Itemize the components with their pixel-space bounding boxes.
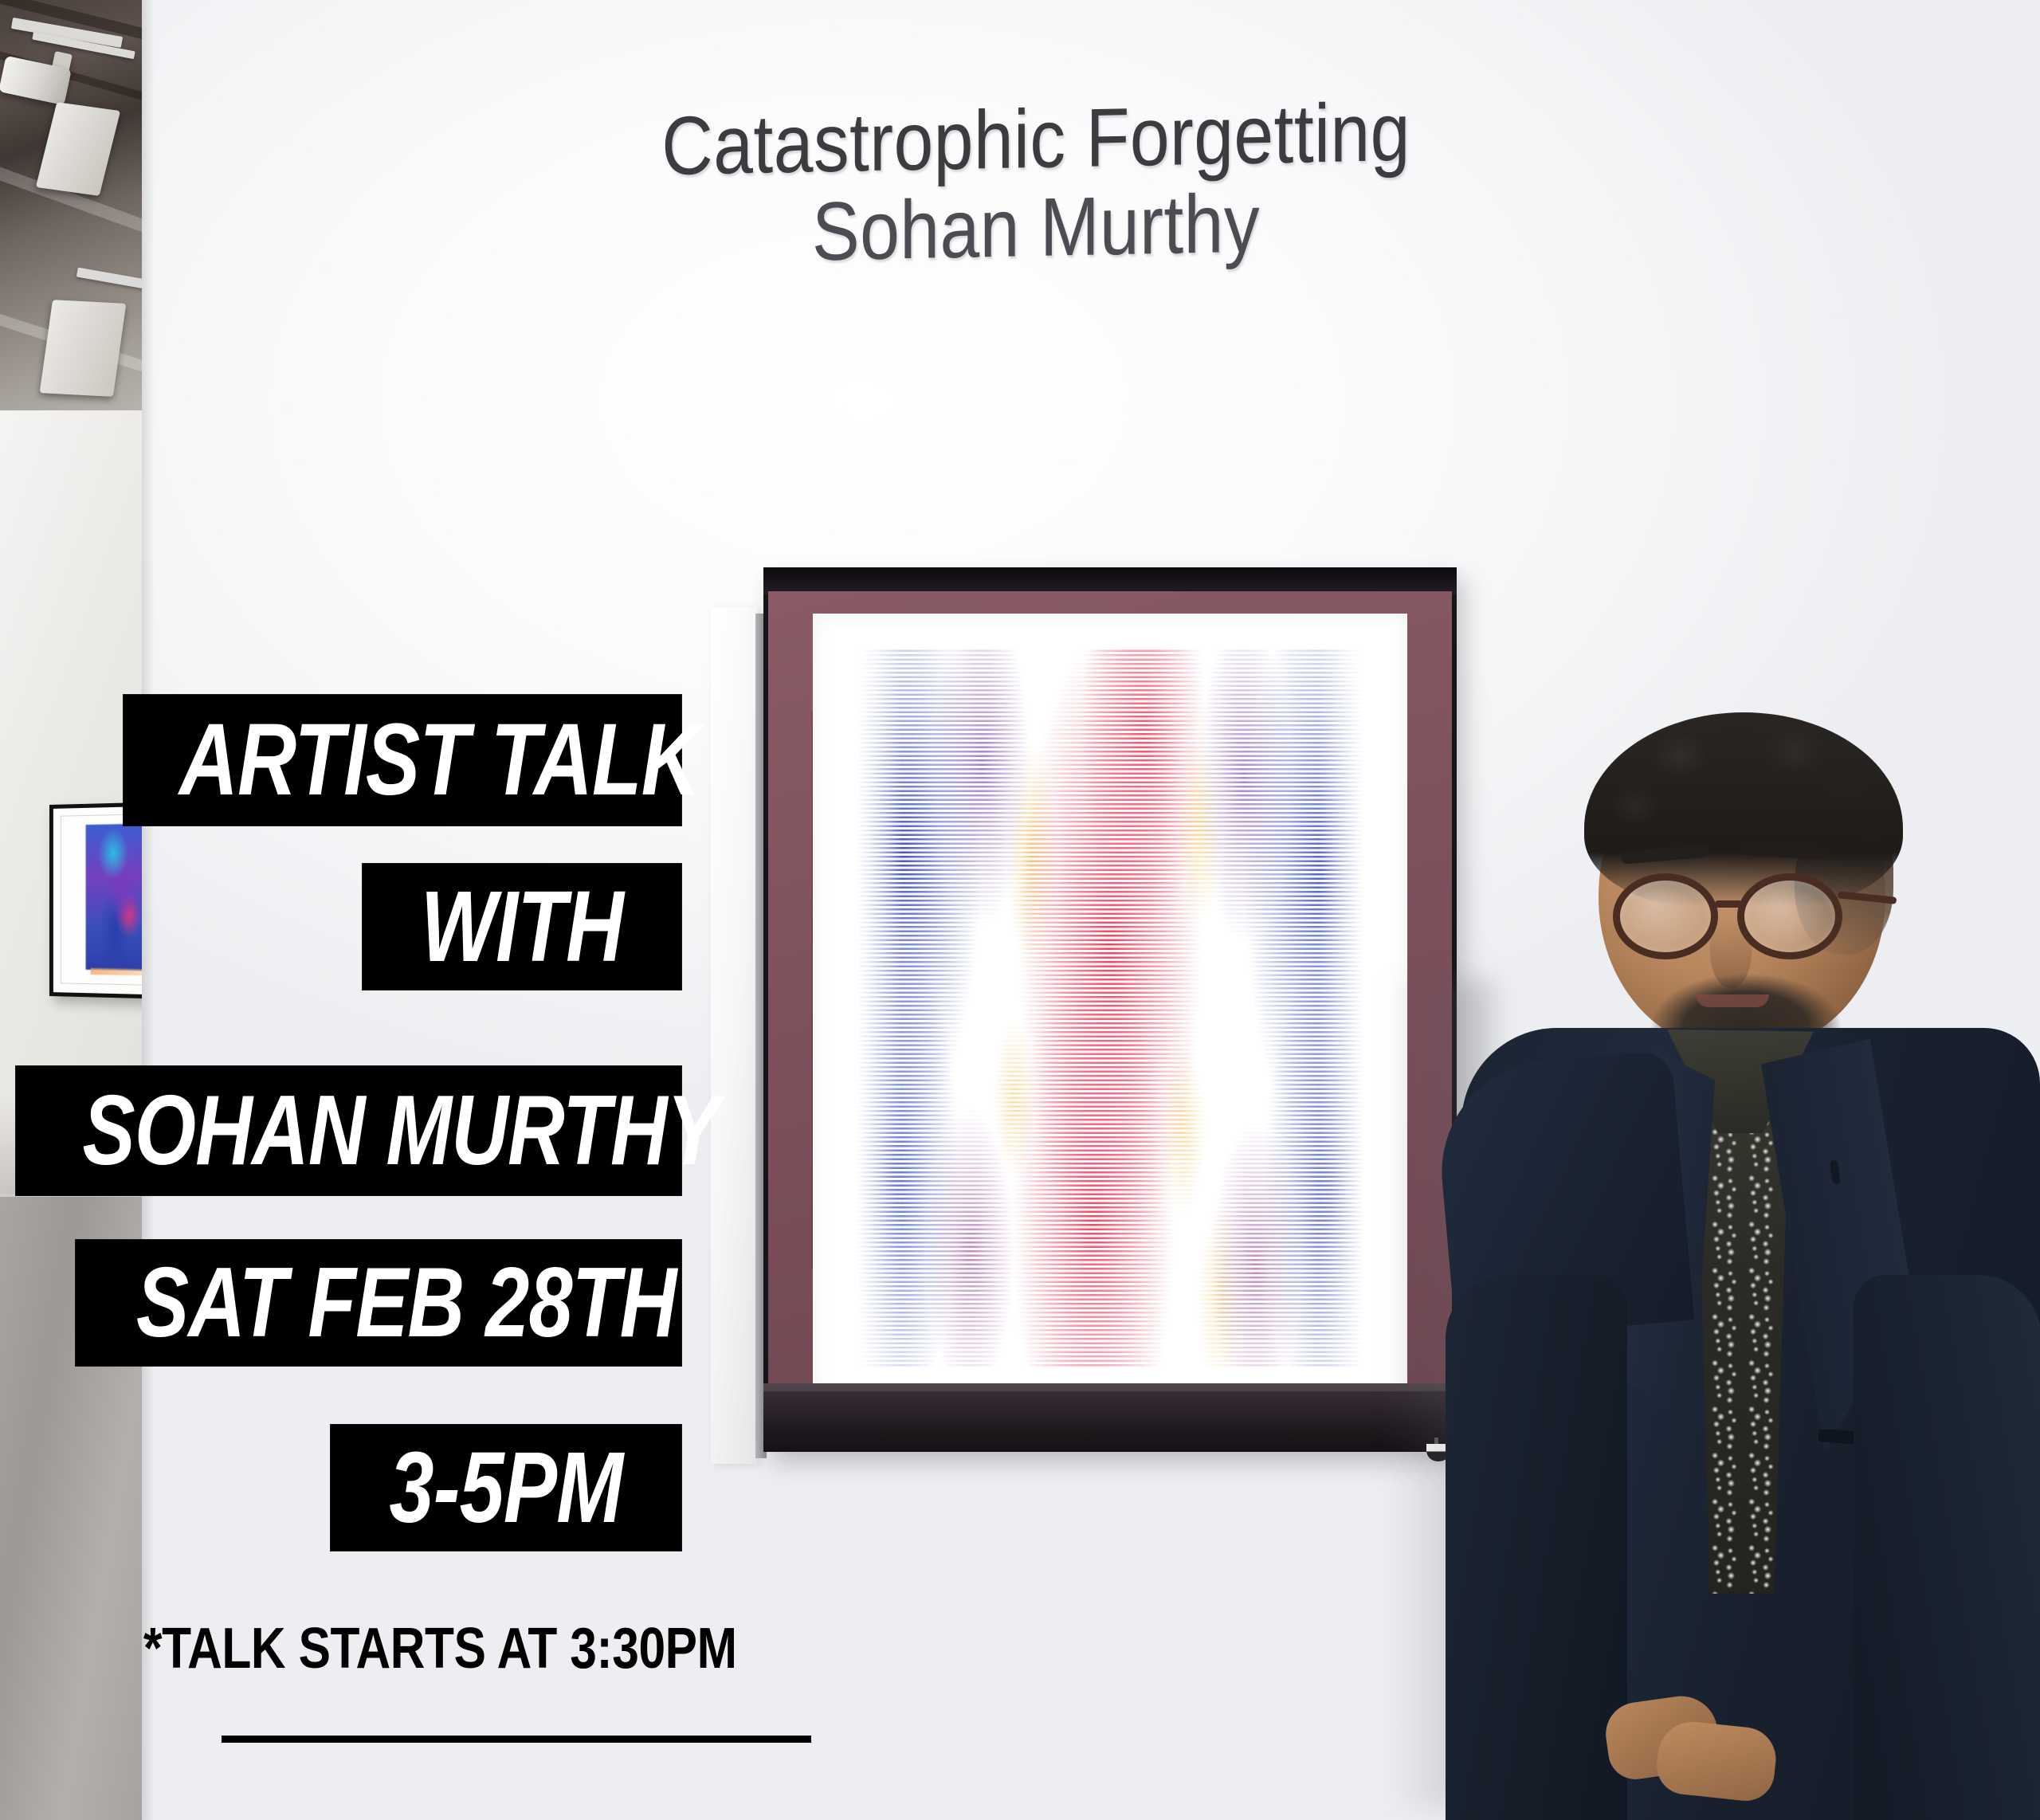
- artist-portrait: [1457, 717, 2040, 1820]
- background-artwork-image: [86, 824, 147, 971]
- wall-corner-edge: [142, 0, 155, 1820]
- exhibition-title: Catastrophic Forgetting: [583, 87, 1488, 193]
- exhibition-artist-name: Sohan Murthy: [583, 175, 1488, 281]
- glasses-bridge: [1715, 900, 1742, 908]
- glasses-lens-right: [1737, 873, 1842, 959]
- light-track-rail: [76, 268, 151, 292]
- hand-right: [1654, 1719, 1779, 1804]
- poster-bar-label: SAT FEB 28TH: [136, 1253, 621, 1352]
- glasses-icon: [1613, 867, 1881, 959]
- artwork-top-margin: [830, 628, 1390, 649]
- track-light-fixture: [40, 300, 127, 397]
- artwork-right-margin: [1318, 628, 1390, 1388]
- arm-left: [1446, 1275, 1627, 1820]
- poster-bar-time: 3-5PM: [331, 1425, 681, 1551]
- artwork-frame: [763, 567, 1457, 1452]
- poster-bar-with: WITH: [363, 864, 681, 990]
- poster-bar-label: SOHAN MURTHY: [83, 1081, 615, 1180]
- poster-bar-label: WITH: [394, 877, 649, 977]
- poster-bar-label: 3-5PM: [366, 1438, 646, 1538]
- artwork-frame-top-edge: [763, 567, 1457, 594]
- artwork-frame-bottom-edge: [763, 1383, 1457, 1452]
- poster-bar-label: ARTIST TALK: [179, 709, 626, 811]
- arm-right: [1854, 1275, 2040, 1820]
- exhibition-wall-text: Catastrophic Forgetting Sohan Murthy: [510, 85, 1562, 283]
- artwork-scan-lines: [830, 628, 1390, 1388]
- background-artwork-frame: [49, 802, 152, 999]
- mouth: [1696, 994, 1769, 1007]
- wall-return-slab: [711, 607, 757, 1464]
- artwork-left-margin: [830, 628, 902, 1388]
- poster-divider-rule: [222, 1736, 811, 1743]
- poster-canvas: Catastrophic Forgetting Sohan Murthy: [0, 0, 2040, 1820]
- poster-bar-sohan-murthy: SOHAN MURTHY: [16, 1066, 681, 1195]
- poster-bar-artist-talk: ARTIST TALK: [124, 695, 681, 826]
- artwork-plotter-drawing: [830, 628, 1390, 1388]
- track-light-fixture: [36, 102, 120, 196]
- gallery-ceiling: [0, 0, 151, 414]
- glasses-lens-left: [1613, 873, 1718, 959]
- main-artwork: [717, 558, 1458, 1458]
- poster-bar-date: SAT FEB 28TH: [76, 1240, 681, 1366]
- artwork-paper: [813, 614, 1407, 1402]
- poster-footnote: *TALK STARTS AT 3:30PM: [143, 1616, 880, 1681]
